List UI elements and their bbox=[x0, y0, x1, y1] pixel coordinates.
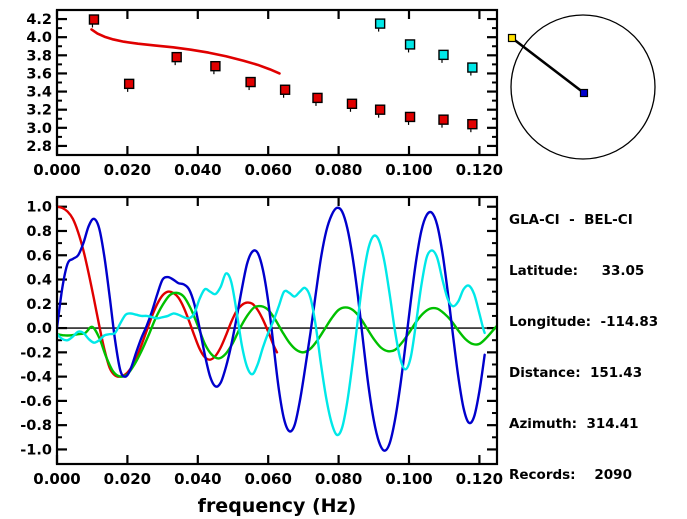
x-tick-label: 0.120 bbox=[456, 161, 503, 179]
data-point-marker bbox=[439, 115, 448, 124]
data-point-marker bbox=[439, 50, 448, 59]
station-marker bbox=[509, 35, 516, 42]
y-tick-label: 0.6 bbox=[26, 248, 52, 264]
station-info-panel: GLA-CI - BEL-CI Latitude: 33.05 Longitud… bbox=[509, 178, 658, 501]
x-tick-label: 0.120 bbox=[456, 470, 503, 488]
data-point-marker bbox=[406, 40, 415, 49]
y-tick-label: 3.8 bbox=[26, 48, 52, 64]
data-point-marker bbox=[313, 93, 322, 102]
y-tick-label: -1.0 bbox=[20, 442, 52, 458]
station-pair-label: GLA-CI - BEL-CI bbox=[509, 212, 658, 229]
data-point-marker bbox=[89, 15, 98, 24]
data-point-marker bbox=[172, 53, 181, 62]
x-tick-label: 0.060 bbox=[244, 470, 291, 488]
y-tick-label: 3.2 bbox=[26, 103, 52, 119]
y-tick-label: 2.8 bbox=[26, 139, 52, 155]
y-tick-label: 3.4 bbox=[26, 85, 52, 101]
y-tick-label: 4.2 bbox=[26, 12, 52, 28]
x-tick-label: 0.100 bbox=[385, 470, 432, 488]
y-tick-label: 3.6 bbox=[26, 66, 52, 82]
x-tick-label: 0.000 bbox=[33, 470, 80, 488]
x-tick-label: 0.100 bbox=[385, 161, 432, 179]
data-point-marker bbox=[347, 99, 356, 108]
y-tick-label: 0.4 bbox=[26, 273, 52, 289]
y-tick-label: 0.2 bbox=[26, 297, 52, 313]
latitude-row: Latitude: 33.05 bbox=[509, 263, 658, 280]
longitude-row: Longitude: -114.83 bbox=[509, 314, 658, 331]
center-station-marker bbox=[581, 90, 588, 97]
data-point-marker bbox=[468, 63, 477, 72]
azimuth-row: Azimuth: 314.41 bbox=[509, 416, 658, 433]
y-tick-label: -0.6 bbox=[20, 394, 52, 410]
y-tick-label: 4.0 bbox=[26, 30, 52, 46]
x-tick-label: 0.080 bbox=[315, 161, 362, 179]
data-point-marker bbox=[468, 120, 477, 129]
y-tick-label: 3.0 bbox=[26, 121, 52, 137]
data-point-marker bbox=[281, 85, 290, 94]
data-point-marker bbox=[246, 78, 255, 87]
data-point-marker bbox=[376, 19, 385, 28]
x-tick-label: 0.020 bbox=[104, 161, 151, 179]
y-tick-label: -0.8 bbox=[20, 418, 52, 434]
y-tick-label: -0.2 bbox=[20, 345, 52, 361]
distance-row: Distance: 151.43 bbox=[509, 365, 658, 382]
screenshot-root: 2.83.03.23.43.63.84.04.20.0000.0200.0400… bbox=[0, 0, 687, 519]
x-tick-label: 0.020 bbox=[104, 470, 151, 488]
records-row: Records: 2090 bbox=[509, 467, 658, 484]
x-tick-label: 0.000 bbox=[33, 161, 80, 179]
data-point-marker bbox=[125, 79, 134, 88]
x-tick-label: 0.040 bbox=[174, 161, 221, 179]
y-tick-label: 0.8 bbox=[26, 224, 52, 240]
y-tick-label: 0.0 bbox=[26, 321, 52, 337]
data-point-marker bbox=[376, 105, 385, 114]
x-axis-title: frequency (Hz) bbox=[198, 495, 357, 517]
x-tick-label: 0.080 bbox=[315, 470, 362, 488]
y-tick-label: 1.0 bbox=[26, 200, 52, 216]
y-tick-label: -0.4 bbox=[20, 370, 52, 386]
data-point-marker bbox=[211, 62, 220, 71]
x-tick-label: 0.060 bbox=[244, 161, 291, 179]
x-tick-label: 0.040 bbox=[174, 470, 221, 488]
data-point-marker bbox=[406, 112, 415, 121]
